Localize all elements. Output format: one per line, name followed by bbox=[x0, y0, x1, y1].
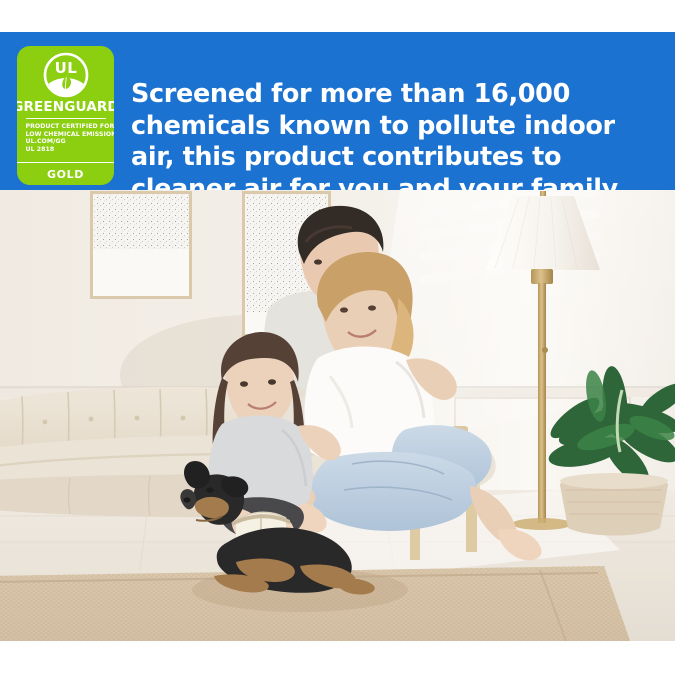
cert-line-1: PRODUCT CERTIFIED FOR bbox=[26, 123, 106, 131]
banner-headline: Screened for more than 16,000 chemicals … bbox=[131, 79, 641, 205]
cert-line-3: UL.COM/GG bbox=[26, 138, 106, 146]
badge-divider bbox=[26, 118, 106, 119]
badge-level-label: GOLD bbox=[47, 168, 84, 181]
ul-certification-icon: UL bbox=[43, 52, 89, 98]
badge-certification-text: PRODUCT CERTIFIED FOR LOW CHEMICAL EMISS… bbox=[26, 123, 106, 153]
promo-image: Screened for more than 16,000 chemicals … bbox=[0, 0, 675, 675]
badge-level-banner: GOLD bbox=[17, 162, 114, 185]
greenguard-gold-badge: UL GREENGUARD PRODUCT CERTIFIED FOR LOW … bbox=[17, 46, 114, 185]
cert-line-2: LOW CHEMICAL EMISSIONS bbox=[26, 131, 106, 139]
svg-text:UL: UL bbox=[54, 59, 77, 77]
lifestyle-photo bbox=[0, 190, 675, 641]
cert-line-4: UL 2818 bbox=[26, 146, 106, 154]
badge-name: GREENGUARD bbox=[17, 99, 114, 115]
